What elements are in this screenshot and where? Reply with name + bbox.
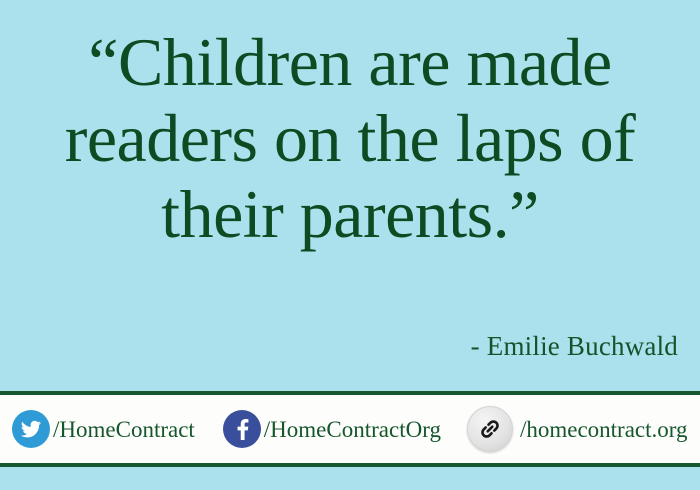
social-link-facebook[interactable]: /HomeContractOrg bbox=[223, 395, 441, 463]
facebook-icon bbox=[223, 410, 261, 448]
twitter-icon bbox=[12, 410, 50, 448]
social-label-twitter: /HomeContract bbox=[53, 418, 195, 441]
social-link-website[interactable]: /homecontract.org bbox=[467, 395, 688, 463]
social-label-facebook: /HomeContractOrg bbox=[264, 418, 441, 441]
link-icon bbox=[467, 406, 513, 452]
social-label-website: /homecontract.org bbox=[520, 418, 688, 441]
quote-text: “Children are made readers on the laps o… bbox=[0, 24, 700, 252]
quote-line-2: readers on the laps of bbox=[0, 100, 700, 176]
quote-line-1: “Children are made bbox=[0, 24, 700, 100]
quote-card: “Children are made readers on the laps o… bbox=[0, 0, 700, 490]
quote-line-3: their parents.” bbox=[0, 176, 700, 252]
quote-attribution: - Emilie Buchwald bbox=[471, 330, 678, 362]
social-link-twitter[interactable]: /HomeContract bbox=[12, 395, 195, 463]
footer-social-bar: /HomeContract /HomeContractOrg bbox=[0, 391, 700, 467]
